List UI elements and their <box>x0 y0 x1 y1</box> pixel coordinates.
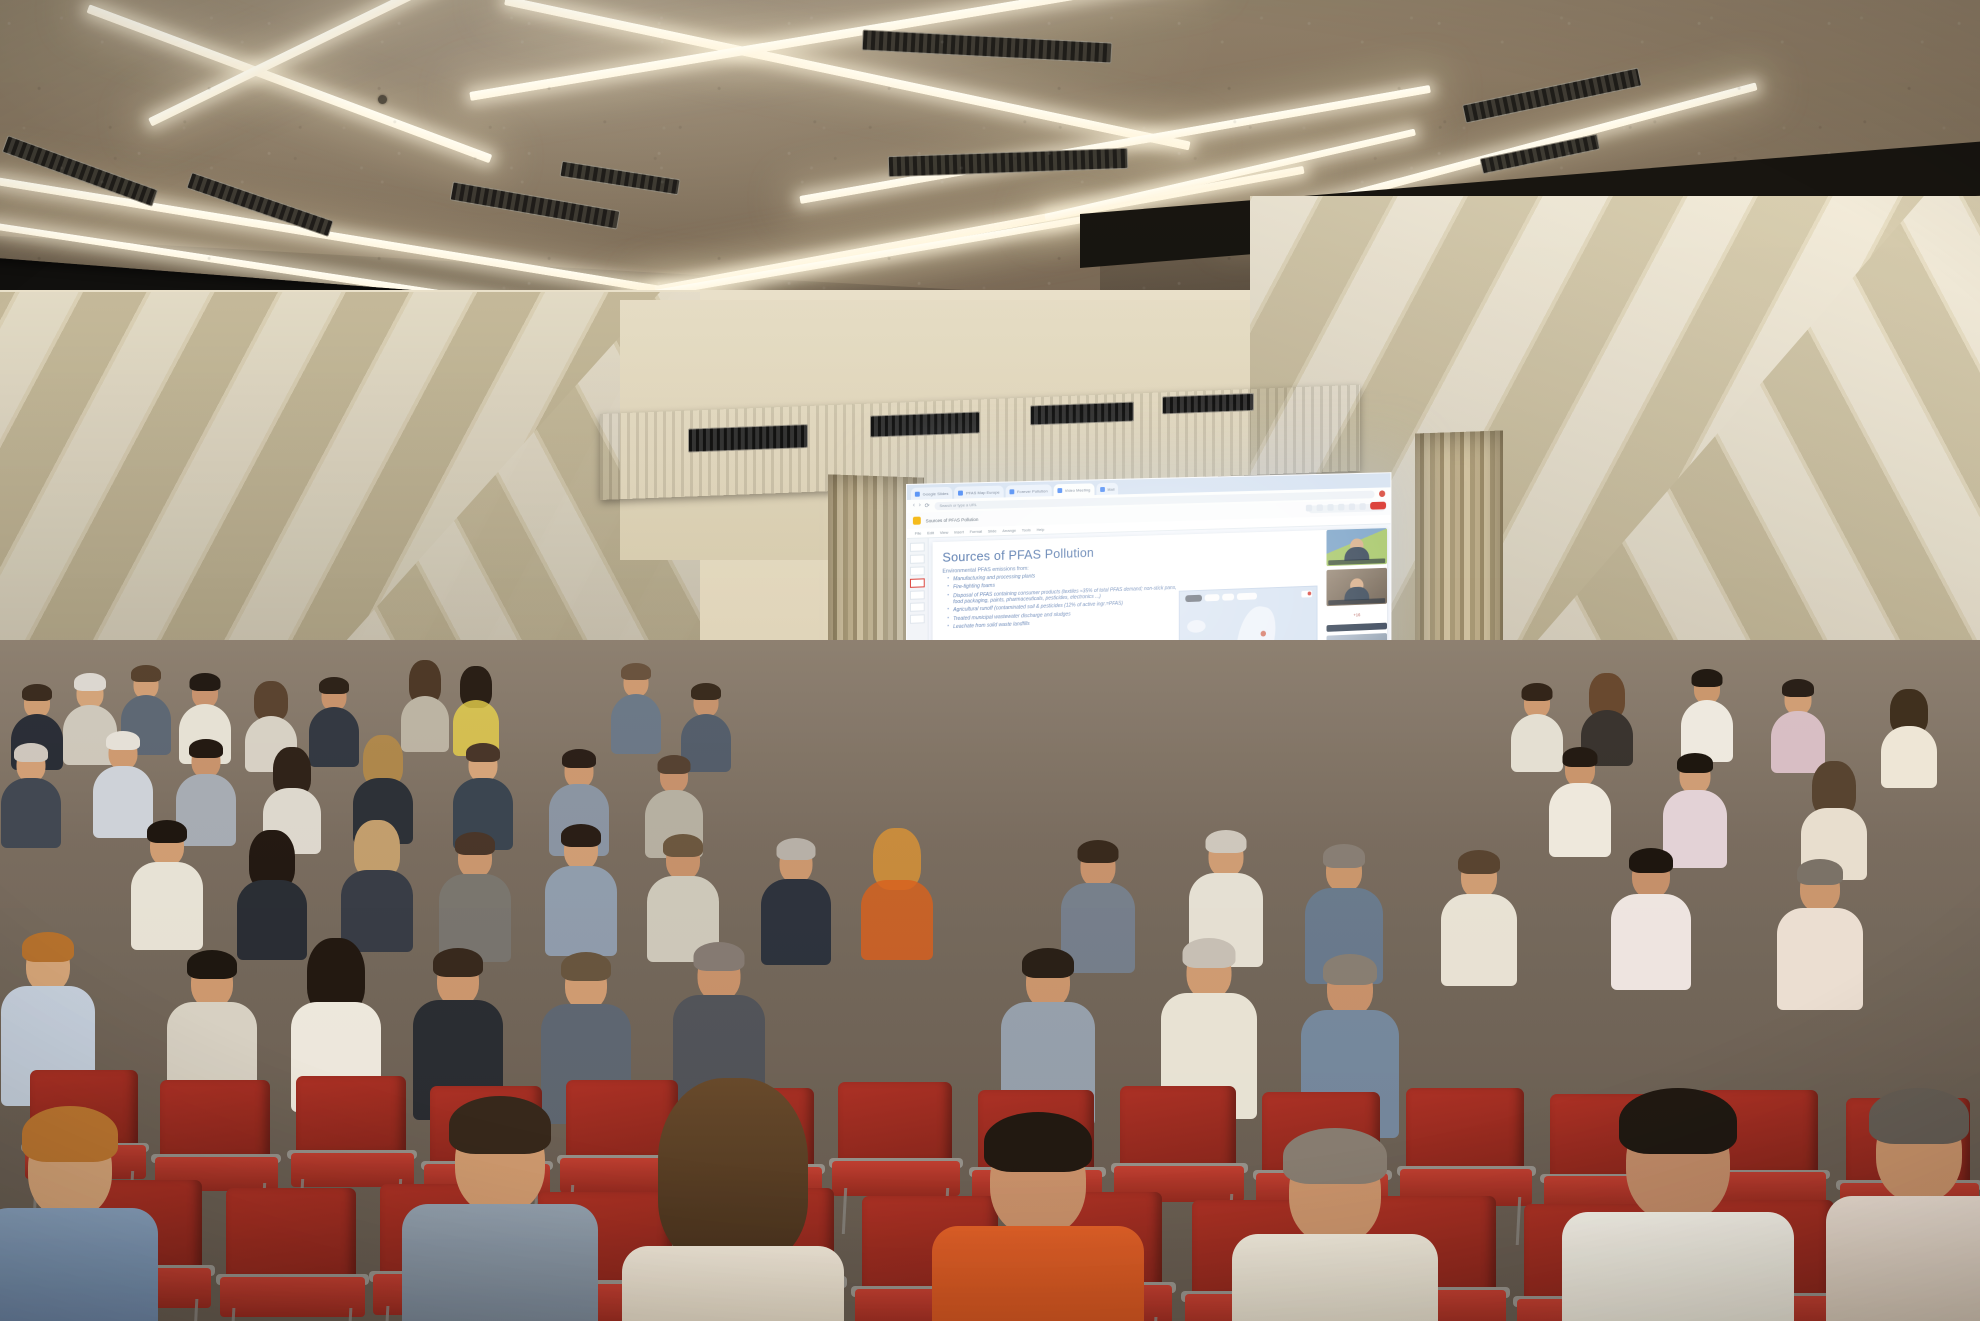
favicon-icon <box>958 490 963 495</box>
video-tile[interactable] <box>1326 568 1386 606</box>
map-tool-map[interactable] <box>1185 595 1202 602</box>
audience-member <box>680 688 732 770</box>
map-toolbar[interactable] <box>1185 593 1257 603</box>
slide-thumbnail-selected[interactable] <box>910 578 925 588</box>
led-strip-light <box>799 85 1431 204</box>
favicon-icon <box>1100 487 1105 492</box>
audience-member-foreground <box>1824 1092 1980 1321</box>
favicon-icon <box>1057 488 1062 493</box>
audience-member-foreground <box>400 1110 600 1321</box>
present-button[interactable] <box>1370 502 1386 510</box>
audience-member-foreground <box>1560 1104 1796 1321</box>
audience-member <box>438 838 512 958</box>
led-strip-light <box>148 0 547 127</box>
print-icon[interactable] <box>1317 504 1323 511</box>
participant-name-label <box>1328 558 1385 565</box>
browser-nav-controls[interactable]: ‹ › ⟳ <box>913 502 930 509</box>
document-title[interactable]: Sources of PFAS Pollution <box>926 516 979 522</box>
zoom-icon[interactable] <box>1338 503 1344 510</box>
slides-logo-icon <box>913 517 921 525</box>
menu-item-slide[interactable]: Slide <box>988 528 997 533</box>
led-strip-light <box>469 0 1200 101</box>
map-landmass <box>1187 620 1205 633</box>
map-tool-data[interactable] <box>1222 593 1234 600</box>
slide-thumbnail[interactable] <box>910 566 925 575</box>
audience-area <box>0 640 1980 1321</box>
forward-icon[interactable]: › <box>919 503 921 510</box>
audience-member <box>1770 684 1826 772</box>
favicon-icon <box>915 491 920 496</box>
menu-item-view[interactable]: View <box>940 530 948 535</box>
audience-member <box>1548 752 1612 856</box>
video-name-strip <box>1326 623 1386 632</box>
audience-member <box>130 826 204 946</box>
paint-icon[interactable] <box>1327 504 1333 511</box>
air-vent-icon <box>2 135 159 207</box>
menu-item-format[interactable]: Format <box>970 529 982 534</box>
textbox-icon[interactable] <box>1360 503 1366 510</box>
video-tile[interactable] <box>1326 528 1386 566</box>
air-vent-icon <box>450 181 621 229</box>
audience-member <box>340 826 414 948</box>
air-vent-icon <box>1162 393 1254 415</box>
menu-item-file[interactable]: File <box>915 531 921 536</box>
air-vent-icon <box>1480 134 1601 175</box>
undo-icon[interactable] <box>1306 504 1312 511</box>
air-vent-icon <box>559 161 680 196</box>
slide-thumbnail[interactable] <box>910 542 925 551</box>
audience-member <box>1662 758 1728 866</box>
air-vent-icon <box>870 411 980 437</box>
audience-member <box>760 844 832 962</box>
audience-member <box>0 748 62 846</box>
address-bar-placeholder: Search or type a URL <box>939 502 977 508</box>
audience-member <box>860 834 934 958</box>
audience-member <box>92 736 154 836</box>
led-strip-light <box>504 0 1191 150</box>
audience-member <box>1440 856 1518 982</box>
browser-tab[interactable]: Google Slides <box>911 487 952 500</box>
menu-item-arrange[interactable]: Arrange <box>1002 528 1016 533</box>
slide-thumbnail[interactable] <box>910 602 925 612</box>
slide-body: Environmental PFAS emissions from: Manuf… <box>942 561 1179 631</box>
menu-item-help[interactable]: Help <box>1037 527 1045 532</box>
slide-title: Sources of PFAS Pollution <box>942 537 1380 564</box>
menu-item-tools[interactable]: Tools <box>1022 527 1031 532</box>
reload-icon[interactable]: ⟳ <box>925 502 930 509</box>
slide-thumbnail[interactable] <box>910 554 925 563</box>
browser-tab-title: Forever Pollution <box>1017 488 1048 494</box>
browser-tab-title: Mail <box>1107 486 1114 491</box>
favicon-icon <box>1009 489 1014 494</box>
menu-item-insert[interactable]: Insert <box>954 529 964 534</box>
audience-member <box>1880 694 1938 786</box>
air-vent-icon <box>862 29 1113 63</box>
audience-member <box>400 664 450 750</box>
audience-member-foreground <box>1230 1140 1440 1321</box>
audience-member <box>544 830 618 954</box>
air-vent-icon <box>1462 67 1642 123</box>
ceiling-fixture <box>378 95 387 104</box>
map-tool-share[interactable] <box>1237 593 1257 601</box>
auditorium-photo: Google Slides PFAS Map Europe Forever Po… <box>0 0 1980 1321</box>
audience-member-foreground <box>930 1126 1146 1321</box>
map-tool-layers[interactable] <box>1205 594 1220 601</box>
audience-member <box>610 668 662 754</box>
led-strip-light <box>86 4 492 163</box>
back-icon[interactable]: ‹ <box>913 503 915 510</box>
audience-member-foreground <box>620 1094 846 1321</box>
air-vent-icon <box>1030 401 1134 425</box>
audience-member <box>1610 854 1692 986</box>
audience-member <box>1680 674 1734 762</box>
air-vent-icon <box>888 148 1129 177</box>
audience-member <box>236 836 308 956</box>
audience-member <box>452 670 500 754</box>
audience-member <box>1060 846 1136 970</box>
profile-avatar[interactable] <box>1379 490 1385 497</box>
browser-tab-title: Video Meeting <box>1065 487 1090 493</box>
air-vent-icon <box>186 172 333 237</box>
browser-tab[interactable]: Mail <box>1096 483 1118 495</box>
browser-tab-title: Google Slides <box>923 490 949 496</box>
audience-member-foreground <box>0 1120 160 1321</box>
participant-overflow-count[interactable]: +16 <box>1326 608 1386 622</box>
browser-tab-title: PFAS Map Europe <box>966 489 1000 495</box>
audience-member <box>1776 866 1864 1006</box>
shapes-icon[interactable] <box>1349 503 1355 510</box>
audience-chair[interactable] <box>226 1188 356 1321</box>
slide-thumbnail[interactable] <box>910 590 925 600</box>
slide-thumbnail[interactable] <box>910 614 925 624</box>
air-vent-icon <box>688 424 808 453</box>
participant-name-label <box>1328 598 1385 605</box>
menu-item-edit[interactable]: Edit <box>927 530 934 535</box>
